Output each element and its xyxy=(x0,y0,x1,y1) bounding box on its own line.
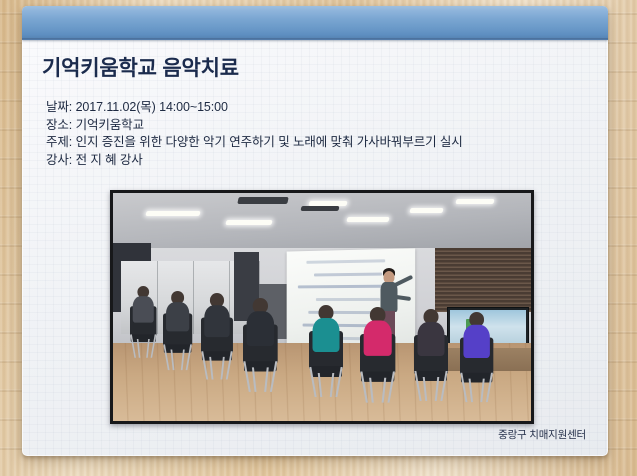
info-label-topic: 주제: xyxy=(46,135,72,149)
seated-person xyxy=(309,305,343,365)
person-torso xyxy=(363,321,391,356)
info-line-topic: 주제: 인지 증진을 위한 다양한 악기 연주하기 및 노래에 맞춰 가사바꿔부… xyxy=(46,134,586,152)
person-torso xyxy=(204,306,229,338)
slide-header-band xyxy=(22,6,608,40)
seated-person xyxy=(130,286,157,333)
info-value-instructor: 전 지 혜 강사 xyxy=(76,153,143,167)
person-torso xyxy=(132,297,153,324)
info-line-date: 날짜: 2017.11.02(목) 14:00~15:00 xyxy=(46,99,586,117)
organization-footer: 중랑구 치매지원센터 xyxy=(498,427,586,442)
session-info-block: 날짜: 2017.11.02(목) 14:00~15:00 장소: 기억키움학교… xyxy=(46,99,586,169)
desk-background: 기억키움학교 음악치료 날짜: 2017.11.02(목) 14:00~15:0… xyxy=(0,0,637,476)
screen-text-line xyxy=(314,272,383,276)
person-torso xyxy=(313,318,340,352)
page-title: 기억키움학교 음악치료 xyxy=(42,52,239,82)
info-value-topic: 인지 증진을 위한 다양한 악기 연주하기 및 노래에 맞춰 가사바꿔부르기 실… xyxy=(76,135,463,149)
seated-person xyxy=(414,309,448,369)
seated-person xyxy=(163,291,192,343)
seated-person xyxy=(243,298,278,359)
seated-person xyxy=(201,293,233,349)
info-label-place: 장소: xyxy=(46,118,72,132)
person-torso xyxy=(246,311,274,346)
photo-window-blinds xyxy=(435,248,531,312)
info-line-place: 장소: 기억키움학교 xyxy=(46,117,586,135)
info-value-place: 기억키움학교 xyxy=(76,118,144,132)
presentation-slide: 기억키움학교 음악치료 날짜: 2017.11.02(목) 14:00~15:0… xyxy=(22,6,608,456)
seated-person xyxy=(460,312,493,371)
person-torso xyxy=(463,324,489,357)
seated-person xyxy=(360,307,395,369)
photo-canvas xyxy=(113,193,531,421)
person-torso xyxy=(417,322,444,356)
screen-text-line xyxy=(307,259,386,264)
info-label-instructor: 강사: xyxy=(46,153,72,167)
info-label-date: 날짜: xyxy=(46,100,72,114)
info-value-date: 2017.11.02(목) 14:00~15:00 xyxy=(76,100,228,114)
photo-ceiling xyxy=(113,193,531,252)
info-line-instructor: 강사: 전 지 혜 강사 xyxy=(46,152,586,170)
person-torso xyxy=(166,302,189,331)
screen-text-line xyxy=(316,298,380,301)
music-therapy-class-photo xyxy=(110,190,534,424)
